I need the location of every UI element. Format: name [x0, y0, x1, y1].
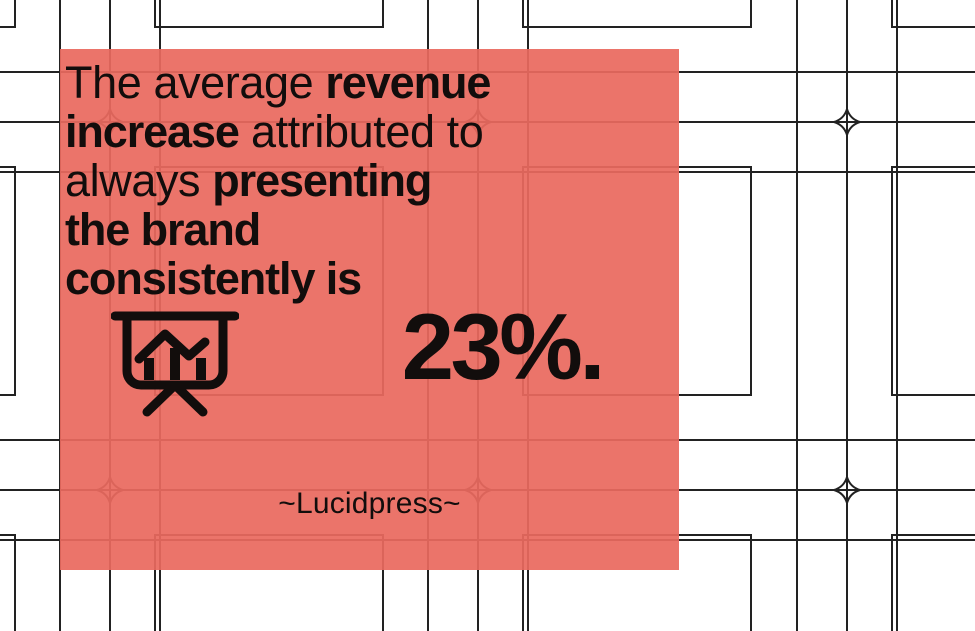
- grid-cell-rect: [892, 0, 975, 27]
- quote-segment: always: [65, 155, 212, 206]
- grid-cell-rect: [0, 0, 15, 27]
- attribution: ~Lucidpress~: [60, 486, 679, 522]
- infographic-canvas: The average revenue increase attributed …: [0, 0, 975, 631]
- quote-line-1: The average revenue: [65, 58, 605, 107]
- quote-line-3: always presenting: [65, 156, 605, 205]
- bar-3: [196, 358, 206, 380]
- quote-line-4: the brand: [65, 205, 605, 254]
- quote-segment: attributed to: [239, 106, 484, 157]
- grid-cell-rect: [0, 167, 15, 395]
- presentation-chart-icon: [111, 309, 239, 417]
- quote-text: The average revenue increase attributed …: [65, 58, 605, 303]
- quote-segment-emphasis: revenue: [325, 57, 490, 108]
- quote-line-2: increase attributed to: [65, 107, 605, 156]
- stat-value: 23%.: [402, 291, 602, 403]
- quote-segment-emphasis: presenting: [212, 155, 431, 206]
- stat-row: 23%.: [65, 305, 610, 425]
- grid-cell-rect: [892, 167, 975, 395]
- grid-cell-rect: [523, 0, 751, 27]
- grid-cell-rect: [155, 0, 383, 27]
- grid-cell-rect: [892, 535, 975, 631]
- quote-segment: The average: [65, 57, 325, 108]
- grid-cell-rect: [0, 535, 15, 631]
- quote-segment-emphasis: the brand: [65, 204, 260, 255]
- quote-segment-emphasis: increase: [65, 106, 239, 157]
- quote-segment-emphasis: consistently is: [65, 253, 361, 304]
- bar-1: [144, 358, 154, 380]
- bar-2: [170, 348, 180, 380]
